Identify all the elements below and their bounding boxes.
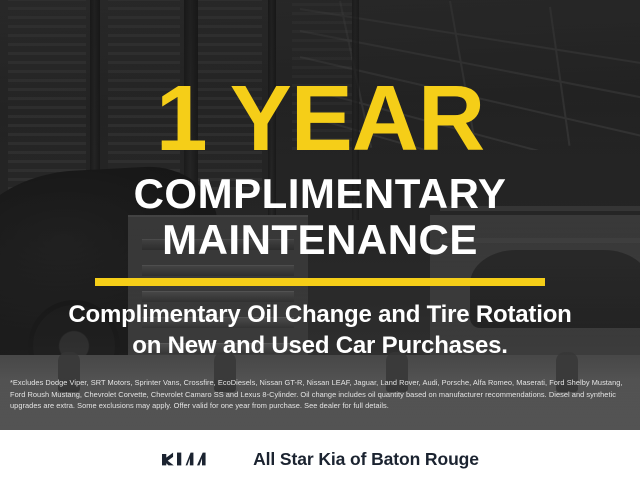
yellow-divider-rule	[95, 278, 545, 286]
hero-text-block: 1 YEAR COMPLIMENTARY MAINTENANCE Complim…	[0, 0, 640, 430]
promotional-banner-ad[interactable]: 1 YEAR COMPLIMENTARY MAINTENANCE Complim…	[0, 0, 640, 488]
headline-1-year: 1 YEAR	[156, 79, 484, 157]
disclaimer-text: *Excludes Dodge Viper, SRT Motors, Sprin…	[10, 377, 630, 412]
hero-banner: 1 YEAR COMPLIMENTARY MAINTENANCE Complim…	[0, 0, 640, 430]
subhead-maintenance: MAINTENANCE	[162, 219, 478, 261]
kia-logo-icon	[161, 449, 233, 469]
dealer-name: All Star Kia of Baton Rouge	[253, 449, 479, 470]
tagline-line-2: on New and Used Car Purchases.	[68, 331, 571, 361]
tagline-line-1: Complimentary Oil Change and Tire Rotati…	[68, 300, 571, 330]
tagline: Complimentary Oil Change and Tire Rotati…	[68, 300, 571, 361]
dealer-footer: All Star Kia of Baton Rouge	[0, 430, 640, 488]
subhead-complimentary: COMPLIMENTARY	[134, 173, 507, 215]
